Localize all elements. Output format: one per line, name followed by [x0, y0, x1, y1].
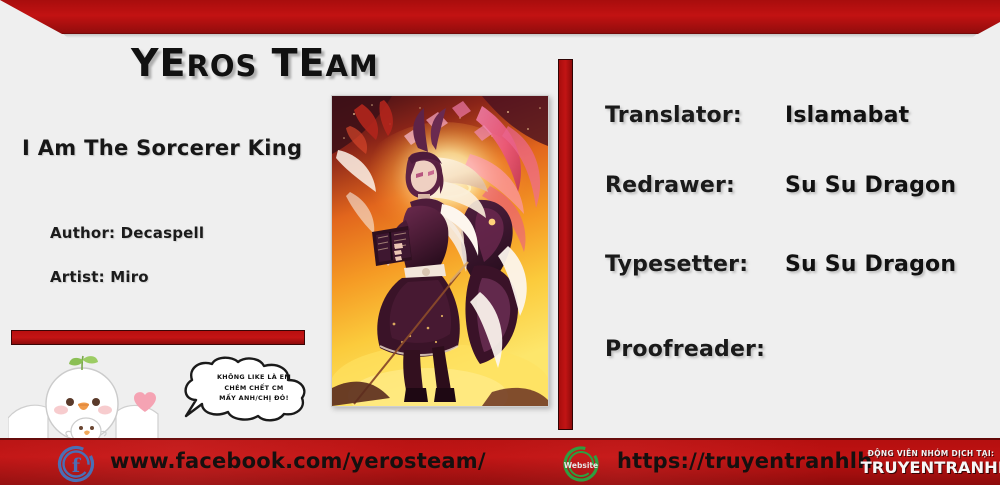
credits-list: Translator: Islamabat Redrawer: Su Su Dr…: [605, 97, 995, 387]
credit-role-translator: Translator:: [605, 103, 785, 128]
website-icon[interactable]: Website: [561, 443, 601, 483]
credit-value-translator: Islamabat: [785, 103, 909, 128]
credit-role-proofreader: Proofreader:: [605, 337, 785, 362]
cover-artwork-illustration: [332, 96, 548, 406]
series-title: I Am The Sorcerer King: [22, 136, 302, 160]
website-url-text[interactable]: https://truyentranhlh.: [617, 449, 881, 473]
credit-value-redrawer: Su Su Dragon: [785, 173, 956, 198]
svg-text:Website: Website: [564, 461, 598, 470]
horizontal-red-divider: [11, 330, 305, 345]
credit-value-typesetter: Su Su Dragon: [785, 252, 956, 277]
credit-role-typesetter: Typesetter:: [605, 252, 785, 277]
team-logo-part3: TE: [257, 41, 325, 85]
mascot-character: [8, 352, 168, 440]
credit-role-redrawer: Redrawer:: [605, 173, 785, 198]
series-artist: Artist: Miro: [50, 268, 149, 286]
speech-line-1: KHÔNG LIKE LÀ EM: [198, 372, 310, 383]
mascot-speech-bubble: KHÔNG LIKE LÀ EM CHÉM CHẾT CM MẤY ANH/CH…: [162, 356, 322, 428]
speech-line-2: CHÉM CHẾT CM: [198, 383, 310, 394]
website-icon-glyph: Website: [561, 443, 601, 483]
team-logo: YEROS TEAM: [131, 41, 379, 85]
vertical-red-divider: [558, 59, 573, 430]
team-logo-part2: ROS: [186, 49, 257, 83]
promo-line-2: TRUYENTRANHLH.NET: [861, 459, 1000, 477]
team-logo-part1: YE: [131, 41, 186, 85]
credit-row: Translator: Islamabat: [605, 103, 909, 128]
credit-row: Proofreader:: [605, 337, 785, 362]
speech-bubble-text: KHÔNG LIKE LÀ EM CHÉM CHẾT CM MẤY ANH/CH…: [198, 372, 310, 404]
credits-page: YEROS TEAM I Am The Sorcerer King Author…: [0, 0, 1000, 485]
speech-line-3: MẤY ANH/CHỊ ĐÓ!: [198, 393, 310, 404]
credit-row: Typesetter: Su Su Dragon: [605, 252, 956, 277]
facebook-icon[interactable]: f: [56, 443, 96, 483]
svg-text:f: f: [72, 455, 82, 477]
mascot-illustration: [8, 352, 168, 440]
promo-badge: ĐỘNG VIÊN NHÓM DỊCH TẠI: TRUYENTRANHLH.N…: [862, 448, 1000, 485]
facebook-icon-glyph: f: [56, 443, 96, 483]
series-author: Author: Decaspell: [50, 224, 204, 242]
facebook-url-text[interactable]: www.facebook.com/yerosteam/: [110, 449, 486, 473]
credit-row: Redrawer: Su Su Dragon: [605, 173, 956, 198]
top-red-banner: [0, 0, 1000, 34]
top-banner-shadow: [0, 33, 1000, 38]
team-logo-part4: AM: [325, 49, 378, 83]
cover-artwork: [331, 95, 549, 407]
